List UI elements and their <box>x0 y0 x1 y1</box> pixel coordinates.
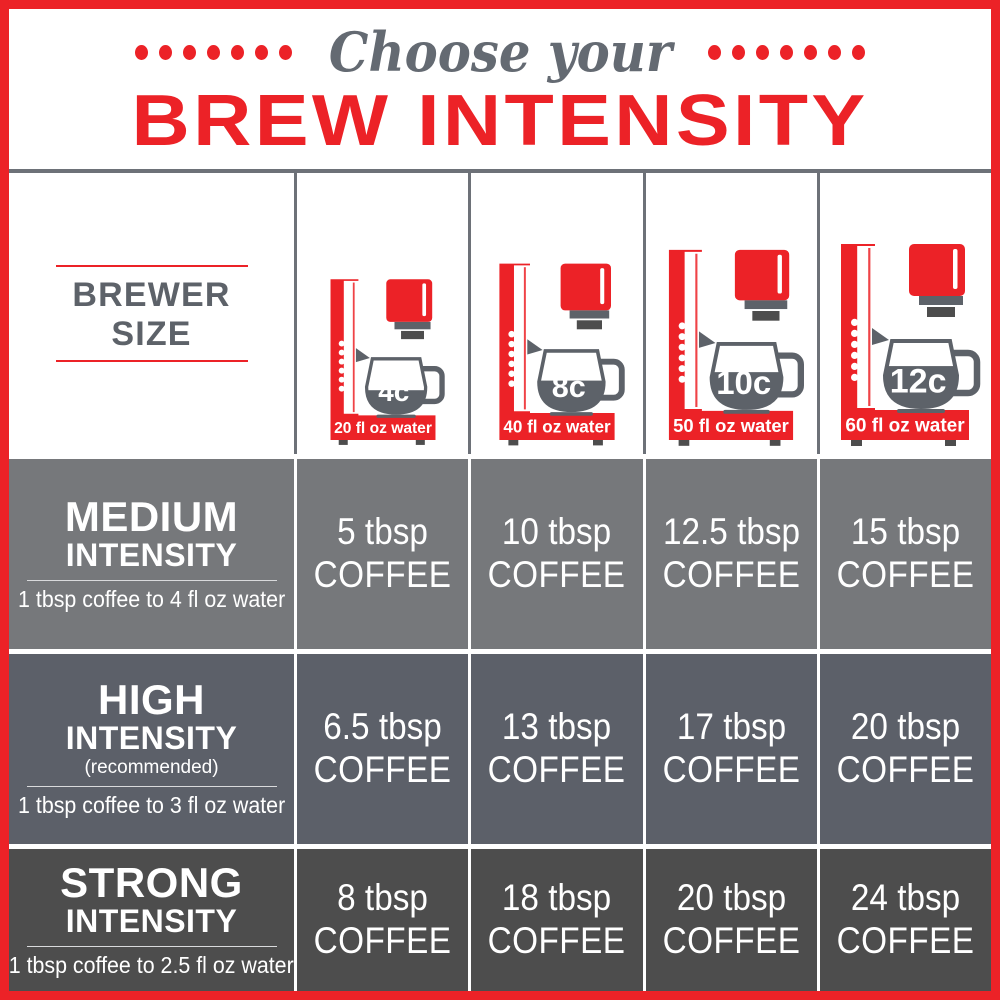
dot-icon <box>159 45 172 60</box>
value-unit: COFFEE <box>488 920 626 963</box>
value-cell-medium-3: 15 tbspCOFFEE <box>820 459 991 649</box>
value-cell-strong-0: 8 tbspCOFFEE <box>297 849 468 991</box>
water-capacity-label: 60 fl oz water <box>846 416 966 437</box>
value-cell-medium-0: 5 tbspCOFFEE <box>297 459 468 649</box>
value-cell-high-0: 6.5 tbspCOFFEE <box>297 654 468 844</box>
brewer-size-label: BREWER SIZE <box>56 267 248 359</box>
coffee-maker-illustration-8c: 8c 40 fl oz water <box>473 198 641 448</box>
value-amount: 10 tbsp <box>502 511 611 552</box>
value-amount: 18 tbsp <box>502 877 611 918</box>
band-row-medium: MEDIUM INTENSITY 1 tbsp coffee to 4 fl o… <box>9 459 991 649</box>
header-script-row: Choose your <box>135 21 866 83</box>
value-amount: 15 tbsp <box>851 511 960 552</box>
carafe-cup-label: 12c <box>890 362 947 400</box>
dot-decoration-right-icon <box>708 45 865 60</box>
brewer-cell-2: 10c 50 fl oz water <box>646 173 817 454</box>
brewer-size-row: BREWER SIZE <box>9 173 991 454</box>
brewer-cell-1: 8c 40 fl oz water <box>471 173 642 454</box>
band-title: MEDIUM <box>65 496 238 538</box>
value-unit: COFFEE <box>314 749 452 792</box>
water-capacity-label: 50 fl oz water <box>673 415 789 436</box>
brewer-cell-0: 4c 20 fl oz water <box>297 173 468 454</box>
value-cell-high-2: 17 tbspCOFFEE <box>646 654 817 844</box>
header-title: BREW INTENSITY <box>132 85 869 157</box>
water-capacity-label: 40 fl oz water <box>503 417 611 436</box>
value-unit: COFFEE <box>662 554 800 597</box>
dot-icon <box>852 45 865 60</box>
band-title: HIGH <box>98 679 205 721</box>
brewer-cell-3: 12c 60 fl oz water <box>820 173 991 454</box>
dot-icon <box>828 45 841 60</box>
band-title: STRONG <box>60 862 243 904</box>
coffee-maker-illustration-10c: 10c 50 fl oz water <box>647 198 815 448</box>
dot-icon <box>231 45 244 60</box>
carafe-cup-label: 8c <box>552 370 586 404</box>
band-rule <box>27 946 277 947</box>
value-unit: COFFEE <box>314 920 452 963</box>
band-subtitle: INTENSITY <box>66 538 238 573</box>
dot-icon <box>804 45 817 60</box>
value-cell-medium-2: 12.5 tbspCOFFEE <box>646 459 817 649</box>
brewer-size-label-line1: BREWER <box>72 276 230 314</box>
brewer-label-rule-bottom <box>56 360 248 362</box>
value-amount: 8 tbsp <box>337 877 428 918</box>
intensity-table: BREWER SIZE <box>9 173 991 991</box>
value-amount: 17 tbsp <box>677 706 786 747</box>
coffee-maker-illustration-12c: 12c 60 fl oz water <box>821 198 989 448</box>
value-amount: 20 tbsp <box>677 877 786 918</box>
value-cell-strong-3: 24 tbspCOFFEE <box>820 849 991 991</box>
value-cell-strong-1: 18 tbspCOFFEE <box>471 849 642 991</box>
band-rule <box>27 786 277 787</box>
coffee-maker-illustration-4c: 4c 20 fl oz water <box>299 198 467 448</box>
band-rule <box>27 580 277 581</box>
dot-icon <box>756 45 769 60</box>
value-unit: COFFEE <box>836 920 974 963</box>
dot-icon <box>780 45 793 60</box>
dot-icon <box>708 45 721 60</box>
header-script-text: Choose your <box>328 25 671 79</box>
dot-decoration-left-icon <box>135 45 292 60</box>
dot-icon <box>732 45 745 60</box>
band-subtitle: INTENSITY <box>66 904 238 939</box>
value-cell-high-3: 20 tbspCOFFEE <box>820 654 991 844</box>
value-amount: 20 tbsp <box>851 706 960 747</box>
band-note: (recommended) <box>84 757 218 780</box>
dot-icon <box>207 45 220 60</box>
band-label-high: HIGH INTENSITY (recommended) 1 tbsp coff… <box>9 654 294 844</box>
water-capacity-label: 20 fl oz water <box>334 420 432 437</box>
value-unit: COFFEE <box>488 554 626 597</box>
band-ratio: 1 tbsp coffee to 2.5 fl oz water <box>9 952 294 978</box>
value-amount: 5 tbsp <box>337 511 428 552</box>
infographic-page: Choose your BREW INTENSITY BREWER SIZE <box>0 0 1000 1000</box>
band-row-high: HIGH INTENSITY (recommended) 1 tbsp coff… <box>9 654 991 844</box>
value-unit: COFFEE <box>314 554 452 597</box>
header: Choose your BREW INTENSITY <box>9 9 991 169</box>
brewer-size-label-line2: SIZE <box>111 315 191 353</box>
value-amount: 6.5 tbsp <box>323 706 441 747</box>
dot-icon <box>255 45 268 60</box>
value-unit: COFFEE <box>662 749 800 792</box>
value-unit: COFFEE <box>836 554 974 597</box>
value-amount: 24 tbsp <box>851 877 960 918</box>
band-label-medium: MEDIUM INTENSITY 1 tbsp coffee to 4 fl o… <box>9 459 294 649</box>
band-ratio: 1 tbsp coffee to 4 fl oz water <box>18 586 285 612</box>
brewer-size-label-cell: BREWER SIZE <box>9 173 294 454</box>
band-subtitle: INTENSITY <box>66 721 238 756</box>
band-label-strong: STRONG INTENSITY 1 tbsp coffee to 2.5 fl… <box>9 849 294 991</box>
value-amount: 12.5 tbsp <box>663 511 800 552</box>
value-unit: COFFEE <box>836 749 974 792</box>
value-cell-strong-2: 20 tbspCOFFEE <box>646 849 817 991</box>
band-row-strong: STRONG INTENSITY 1 tbsp coffee to 2.5 fl… <box>9 849 991 991</box>
value-unit: COFFEE <box>488 749 626 792</box>
dot-icon <box>279 45 292 60</box>
value-cell-high-1: 13 tbspCOFFEE <box>471 654 642 844</box>
value-unit: COFFEE <box>662 920 800 963</box>
dot-icon <box>183 45 196 60</box>
dot-icon <box>135 45 148 60</box>
carafe-cup-label: 4c <box>378 376 409 407</box>
carafe-cup-label: 10c <box>716 364 771 401</box>
value-cell-medium-1: 10 tbspCOFFEE <box>471 459 642 649</box>
value-amount: 13 tbsp <box>502 706 611 747</box>
band-ratio: 1 tbsp coffee to 3 fl oz water <box>18 792 285 818</box>
